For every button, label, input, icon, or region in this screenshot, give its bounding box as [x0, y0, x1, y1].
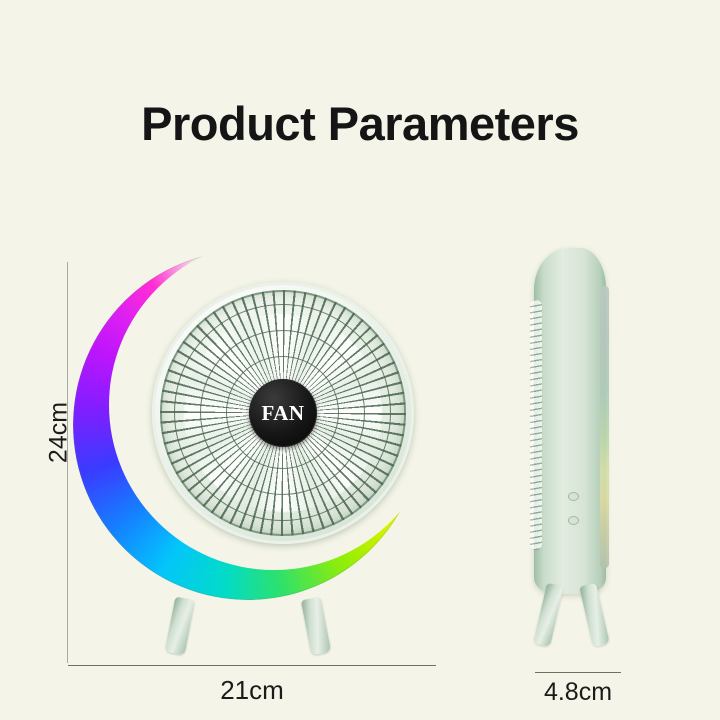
depth-dimension-label: 4.8cm [512, 678, 644, 707]
side-view [528, 248, 638, 660]
side-ring-edge [600, 286, 609, 568]
product-parameters-image: Product Parameters 24cm 21cm 4.8cm [0, 0, 720, 720]
side-button-lower [568, 516, 579, 525]
page-title: Product Parameters [0, 96, 720, 151]
front-leg-right [301, 597, 331, 656]
width-dimension-line [68, 665, 436, 666]
side-button-upper [568, 492, 579, 501]
side-body [534, 248, 606, 594]
front-leg-left [165, 597, 195, 656]
fan-hub-label: FAN [261, 403, 304, 424]
side-leg-left [533, 583, 564, 647]
side-grille-edge [530, 300, 542, 550]
fan-head-front: FAN [152, 282, 414, 544]
width-dimension-label: 21cm [68, 675, 436, 706]
side-leg-right [579, 583, 610, 647]
front-view: FAN [70, 240, 440, 660]
depth-dimension-line [535, 672, 621, 673]
fan-hub: FAN [249, 379, 317, 447]
